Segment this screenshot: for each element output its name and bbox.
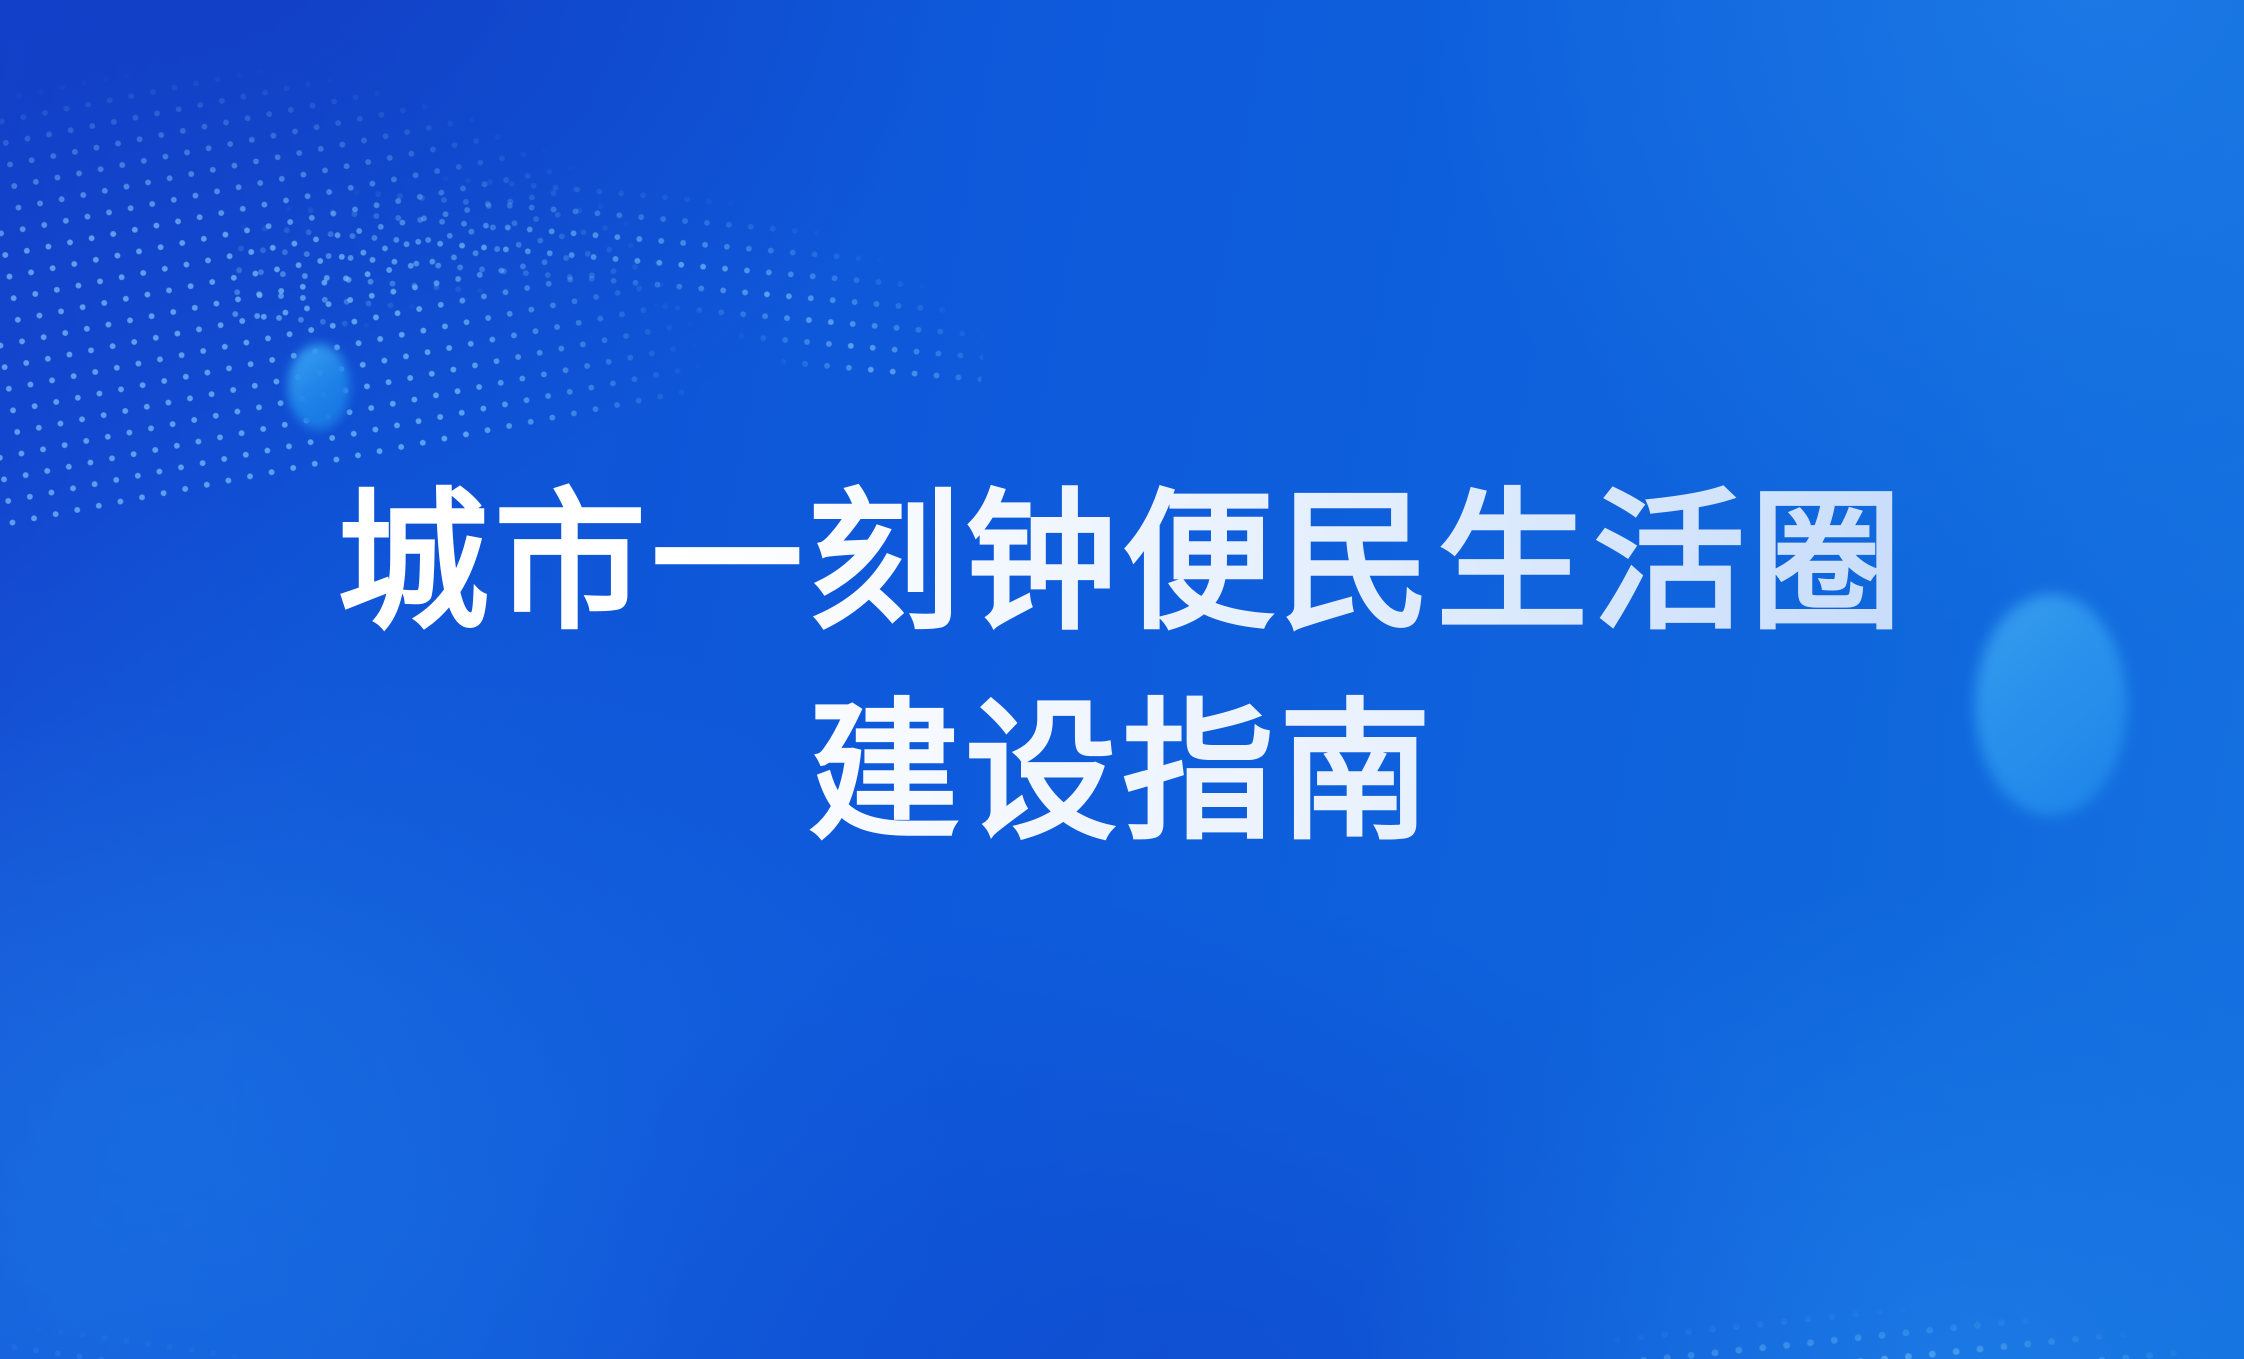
wave-bottom-right-light xyxy=(1350,880,2244,1359)
headline-line-1: 城市一刻钟便民生活圈 xyxy=(0,458,2244,668)
wave-bottom-center-dark xyxy=(430,900,1930,1359)
banner-headline: 城市一刻钟便民生活圈 建设指南 xyxy=(0,458,2244,878)
ellipse-left-accent xyxy=(288,344,350,430)
wave-top-left-dark xyxy=(0,0,980,520)
banner-canvas: 城市一刻钟便民生活圈 建设指南 xyxy=(0,0,2244,1359)
halftone-dots-top-left-arc xyxy=(223,0,1017,392)
halftone-dots-bottom-right xyxy=(1271,1036,2244,1359)
halftone-dots-bottom-left xyxy=(0,1195,473,1359)
headline-line-2: 建设指南 xyxy=(0,668,2244,878)
